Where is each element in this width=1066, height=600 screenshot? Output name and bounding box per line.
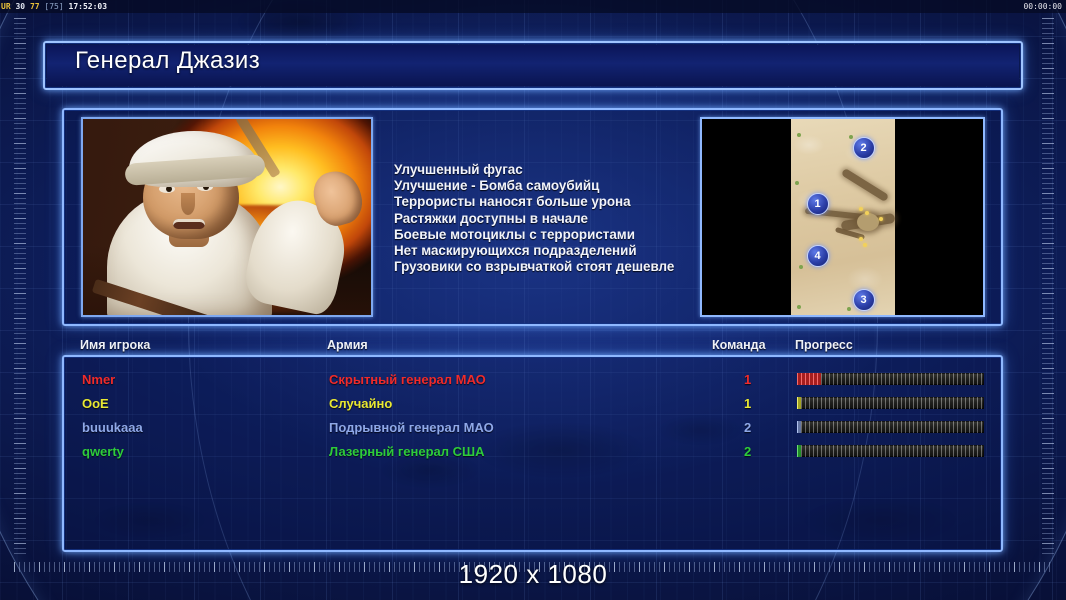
minimap-resource-4 [859,237,863,241]
header-progress: Прогресс [795,338,853,352]
minimap-tree-2 [849,135,853,139]
resolution-label: 1920 x 1080 [0,559,1066,590]
progress-bar-ticks [797,421,984,433]
player-name: OoE [82,396,109,411]
progress-bar-ticks [797,397,984,409]
general-description: Улучшенный фугасУлучшение - Бомба самоуб… [394,162,729,275]
minimap-terrain: 2143 [791,119,895,317]
table-row[interactable]: NmerСкрытный генерал МАО1 [64,370,1005,394]
table-row[interactable]: buuukaaaПодрывной генерал МАО2 [64,418,1005,442]
status-tag: UR [1,2,11,11]
player-name: Nmer [82,372,115,387]
ruler-left [14,18,26,558]
minimap-resource-1 [859,207,863,211]
description-line: Улучшенный фугас [394,162,729,178]
title-panel: Генерал Джазиз [43,41,1023,90]
minimap-tree-6 [847,307,851,311]
description-line: Боевые мотоциклы с террористами [394,227,729,243]
player-army: Скрытный генерал МАО [329,372,486,387]
portrait-nose [181,193,195,215]
general-portrait [81,117,373,317]
minimap-start-position[interactable]: 1 [807,193,829,215]
status-value-3: [75] [44,2,63,11]
progress-bar [797,421,984,433]
description-line: Нет маскирующихся подразделений [394,243,729,259]
description-line: Растяжки доступны в начале [394,211,729,227]
description-line: Террористы наносят больше урона [394,194,729,210]
table-row[interactable]: qwertyЛазерный генерал США2 [64,442,1005,466]
portrait-mouth [173,219,205,229]
progress-bar-fill [797,397,801,409]
player-team: 2 [744,420,751,435]
minimap-resource-2 [865,211,869,215]
player-army: Лазерный генерал США [329,444,484,459]
ruler-right [1042,18,1054,558]
player-army: Подрывной генерал МАО [329,420,494,435]
description-line: Грузовики со взрывчаткой стоят дешевле [394,259,729,275]
minimap-tree-4 [799,265,803,269]
status-match-timer: 00:00:00 [1023,0,1062,13]
page-title: Генерал Джазиз [75,47,260,75]
minimap-resource-5 [863,243,867,247]
minimap-river-2 [840,168,888,202]
player-team: 1 [744,396,751,411]
minimap-start-position[interactable]: 3 [853,289,875,311]
progress-bar-fill [797,373,821,385]
minimap-start-position[interactable]: 4 [807,245,829,267]
progress-bar [797,373,984,385]
player-name: qwerty [82,444,124,459]
player-army: Случайно [329,396,392,411]
progress-bar-ticks [797,373,984,385]
top-status-bar: UR 30 77 [75] 17:52:03 00:00:00 [0,0,1066,13]
progress-bar [797,397,984,409]
minimap-lake [857,213,879,231]
progress-bar-fill [797,445,801,457]
minimap-start-position[interactable]: 2 [853,137,875,159]
minimap-preview: 2143 [700,117,985,317]
player-table-headers: Имя игрока Армия Команда Прогресс [62,338,1003,356]
player-team: 2 [744,444,751,459]
table-row[interactable]: OoEСлучайно1 [64,394,1005,418]
general-info-panel: Улучшенный фугасУлучшение - Бомба самоуб… [62,108,1003,326]
progress-bar-fill [797,421,801,433]
status-value-2: 77 [30,2,40,11]
portrait-artwork [83,119,371,315]
status-left-group: UR 30 77 [75] 17:52:03 [1,0,107,13]
progress-bar [797,445,984,457]
status-value-1: 30 [15,2,25,11]
minimap-tree-3 [795,181,799,185]
minimap-tree-1 [797,133,801,137]
progress-bar-ticks [797,445,984,457]
header-team: Команда [712,338,766,352]
minimap-resource-3 [879,217,883,221]
minimap-tree-5 [797,305,801,309]
game-lobby-screen: UR 30 77 [75] 17:52:03 00:00:00 Генерал … [0,0,1066,600]
status-clock: 17:52:03 [69,2,108,11]
player-name: buuukaaa [82,420,143,435]
description-line: Улучшение - Бомба самоубийц [394,178,729,194]
header-player-name: Имя игрока [80,338,150,352]
player-team: 1 [744,372,751,387]
player-list-panel: NmerСкрытный генерал МАО1OoEСлучайно1buu… [62,355,1003,552]
header-army: Армия [327,338,368,352]
